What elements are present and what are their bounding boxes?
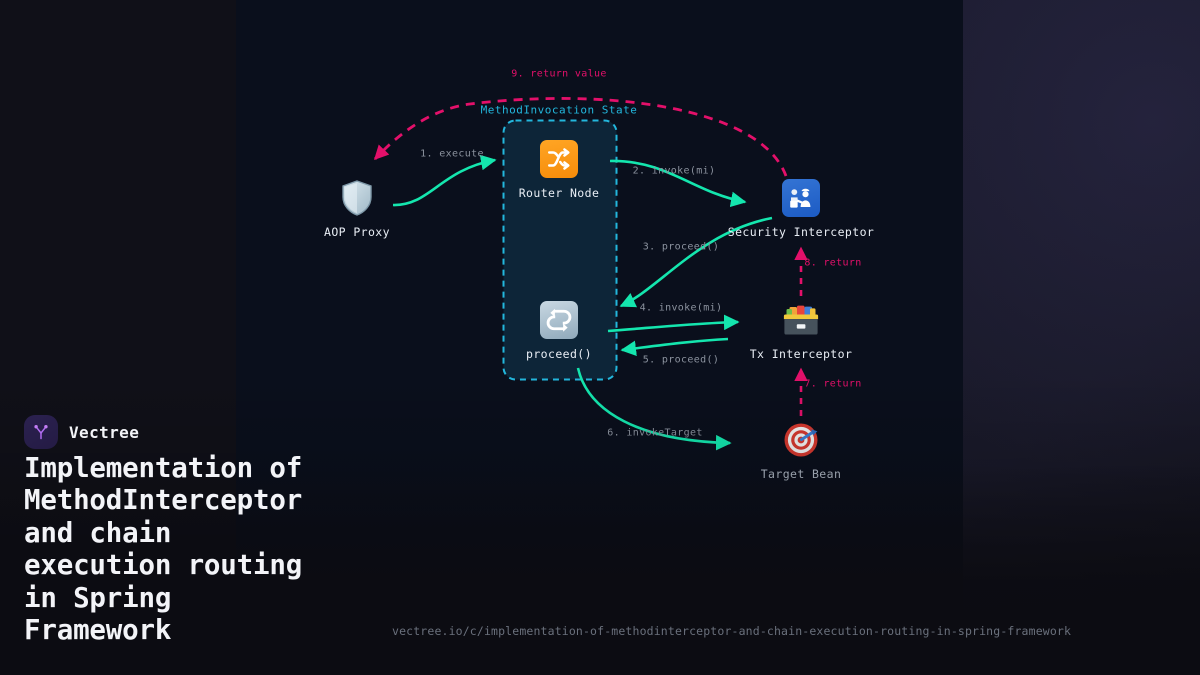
edge-label-8: 8. return — [804, 258, 861, 269]
passport-control-icon — [781, 178, 821, 218]
card-index-box-icon — [781, 300, 821, 340]
node-target-bean[interactable]: Target Bean — [701, 420, 901, 481]
edge-label-7: 7. return — [804, 379, 861, 390]
edge-label-9: 9. return value — [511, 69, 607, 80]
node-label: Router Node — [519, 186, 600, 200]
screenshot-stage: 9. return value MethodInvocation State 1… — [0, 0, 1200, 675]
node-label: AOP Proxy — [324, 225, 390, 239]
vectree-branch-icon — [24, 415, 58, 449]
shield-icon — [337, 178, 377, 218]
repeat-arrows-icon — [539, 300, 579, 340]
node-label: Tx Interceptor — [750, 347, 853, 361]
node-router-node[interactable]: Router Node — [459, 139, 659, 200]
node-label: Security Interceptor — [728, 225, 874, 239]
node-tx-interceptor[interactable]: Tx Interceptor — [701, 300, 901, 361]
node-security-interceptor[interactable]: Security Interceptor — [701, 178, 901, 239]
node-label: Target Bean — [761, 467, 842, 481]
container-label: MethodInvocation State — [481, 104, 638, 117]
edge-label-3: 3. proceed() — [643, 242, 719, 253]
shuffle-icon — [539, 139, 579, 179]
page-title: Implementation of MethodInterceptor and … — [24, 452, 414, 646]
source-url: vectree.io/c/implementation-of-methodint… — [392, 624, 1071, 638]
node-label: proceed() — [526, 347, 592, 361]
brand-block: Vectree — [24, 415, 139, 449]
node-aop-proxy[interactable]: AOP Proxy — [257, 178, 457, 239]
node-proceed[interactable]: proceed() — [459, 300, 659, 361]
dartboard-icon — [781, 420, 821, 460]
brand-name: Vectree — [69, 423, 139, 442]
edge-label-6: 6. invokeTarget — [607, 428, 703, 439]
